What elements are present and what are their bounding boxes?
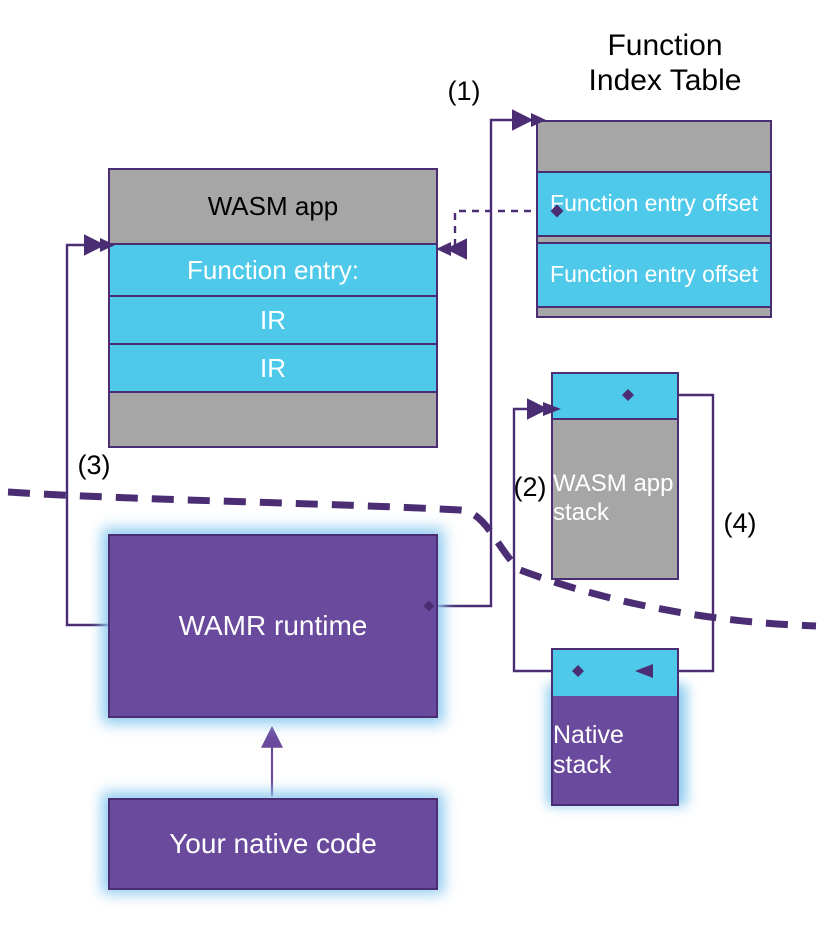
native-stack-box: Native stack (551, 648, 679, 806)
diagram-canvas: Function Index Table (1) (2) (3) (4) WAS… (0, 0, 819, 925)
wasm-app-stack-label: WASM app stack (553, 420, 677, 578)
function-index-table-box: Function entry offset Function entry off… (536, 120, 772, 318)
function-index-table-separator-1 (538, 235, 770, 244)
native-stack-top-band (553, 650, 677, 696)
wasm-app-ir-row-2: IR (110, 345, 436, 393)
wasm-app-stack-top-band (553, 374, 677, 420)
wasm-app-ir-row-1: IR (110, 297, 436, 345)
wasm-app-box: WASM app Function entry: IR IR (108, 168, 438, 448)
wasm-app-footer-row (110, 393, 436, 446)
wamr-runtime-box: WAMR runtime (108, 534, 438, 718)
function-index-table-top-gray (538, 122, 770, 173)
wamr-runtime-label: WAMR runtime (110, 536, 436, 716)
function-entry-offset-row-2: Function entry offset (538, 244, 770, 306)
wasm-app-header-label: WASM app (110, 170, 436, 245)
function-index-table-separator-2 (538, 306, 770, 316)
function-entry-offset-row-1: Function entry offset (538, 173, 770, 235)
native-stack-label: Native stack (553, 696, 677, 804)
your-native-code-label: Your native code (110, 800, 436, 888)
your-native-code-box: Your native code (108, 798, 438, 890)
wasm-app-stack-box: WASM app stack (551, 372, 679, 580)
wasm-app-function-entry-row: Function entry: (110, 245, 436, 297)
